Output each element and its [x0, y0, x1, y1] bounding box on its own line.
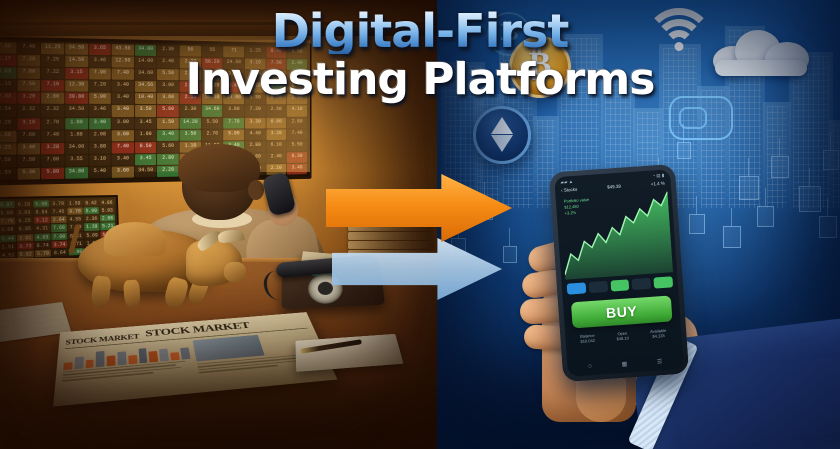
quote-cell: 3.09 [0, 226, 16, 234]
tab-1d[interactable] [567, 282, 587, 294]
quote-cell: 3.00 [112, 118, 134, 129]
nav-menu-icon[interactable]: ☰ [657, 358, 663, 365]
chart-legend: Portfolio value $12,480 +3.2% [564, 197, 591, 217]
stat-balance: Balance $10,042 [580, 333, 595, 344]
quote-cell: 7.75 [0, 218, 15, 226]
buy-button[interactable]: BUY [571, 295, 673, 328]
data-square [799, 186, 821, 212]
quote-cell: 1.51 [0, 243, 16, 251]
ethereum-coin [473, 106, 531, 164]
status-signal: ▰▰ ▲ [560, 179, 573, 186]
trading-app-smartphone[interactable]: ▰▰ ▲ ◔ ▤ ▮ ‹ Stocks $49.38 +1.4 % Portfo… [549, 164, 689, 382]
banner-title: Digital-First Investing Platforms [0, 8, 840, 102]
quote-cell: 1.59 [67, 200, 83, 207]
newspaper-chart-bar [107, 356, 116, 367]
portfolio-chart: Portfolio value $12,480 +3.2% [559, 188, 673, 279]
quote-cell: 3.80 [224, 106, 245, 117]
quote-cell: 3.50 [135, 105, 157, 116]
data-square [819, 216, 837, 238]
tab-1y[interactable] [632, 278, 652, 290]
data-stem [765, 188, 766, 206]
quote-cell: 7.59 [0, 156, 16, 168]
ticker-change: +1.4 % [651, 181, 665, 187]
data-stem [696, 196, 697, 214]
quote-cell: 1.59 [0, 130, 16, 142]
banner-canvas: 7.507.4011.2534.503.6543.5034.002.305655… [0, 0, 840, 449]
bull-shoulder-hump [104, 222, 166, 256]
stat-value: $4,128 [650, 333, 666, 339]
quote-cell: 3.40 [89, 118, 111, 129]
ethereum-diamond-bottom [491, 135, 513, 152]
nav-grid-icon[interactable]: ▦ [621, 361, 627, 368]
data-square [739, 176, 759, 200]
quote-cell: 7.60 [41, 155, 64, 167]
quote-cell: 8.64 [52, 248, 68, 256]
bull-leg [90, 275, 111, 309]
quote-cell: 5.97 [0, 201, 15, 209]
nav-home-icon[interactable]: ⌂ [588, 363, 592, 370]
data-square [771, 156, 789, 178]
data-stem [509, 228, 510, 246]
quote-cell: 3.73 [17, 242, 34, 250]
quote-cell: 5.99 [84, 207, 99, 214]
quote-cell: 5.92 [17, 250, 34, 258]
chat-bubble-icon [669, 96, 733, 140]
quote-cell: 5.79 [35, 249, 51, 257]
tab-1w[interactable] [588, 281, 608, 293]
trader-ear [248, 180, 264, 200]
quote-cell: 7.70 [224, 117, 245, 128]
quote-cell: 1.50 [157, 117, 178, 128]
ethereum-diamond-top [491, 117, 513, 134]
newspaper-photo [192, 335, 264, 362]
quote-cell: 2.93 [16, 209, 33, 217]
quote-cell: 2.70 [202, 129, 223, 140]
newspaper-column [62, 341, 193, 388]
newspaper-chart-bar [149, 351, 158, 362]
phone-screen[interactable]: ▰▰ ▲ ◔ ▤ ▮ ‹ Stocks $49.38 +1.4 % Portfo… [554, 169, 684, 377]
quote-cell: 5.60 [157, 105, 178, 116]
newspaper-chart-bar [159, 348, 169, 361]
quote-cell: 34.60 [202, 106, 223, 117]
quote-cell: 3.23 [0, 143, 16, 155]
bull-leg [123, 279, 141, 308]
quote-cell: 7.68 [51, 224, 67, 232]
quote-cell: 3.20 [0, 118, 16, 130]
newspaper-chart-bar [96, 351, 105, 367]
newspaper-chart-bar [138, 348, 148, 363]
quote-cell: 3.12 [34, 217, 50, 225]
newspaper-chart-bar [85, 359, 94, 368]
back-button[interactable]: ‹ Stocks [561, 187, 578, 193]
data-square [823, 150, 839, 170]
data-square [689, 214, 705, 234]
data-square [503, 246, 517, 263]
data-stem [731, 208, 732, 226]
quote-cell: 3.74 [52, 240, 68, 248]
data-square [677, 142, 691, 159]
quote-cell: 1.60 [65, 118, 88, 129]
quote-cell: 3.01 [17, 234, 34, 242]
quote-cell: 3.45 [135, 118, 157, 129]
newspaper-chart-bar [128, 355, 137, 364]
quote-cell: 7.00 [51, 232, 67, 240]
ticker-price: $49.38 [607, 184, 621, 190]
quote-cell: 3.28 [41, 143, 64, 155]
quote-cell: 34.50 [65, 105, 88, 116]
quote-cell: 2.54 [0, 105, 16, 117]
quote-cell: 3.20 [266, 129, 286, 140]
quote-cell: 3.50 [180, 129, 201, 140]
quote-cell: 7.40 [287, 129, 307, 140]
status-icons: ◔ ▤ ▮ [652, 173, 664, 180]
quote-cell: 2.70 [41, 118, 64, 130]
quote-cell: 5.89 [0, 209, 15, 217]
quote-cell: 4.86 [99, 199, 114, 206]
quote-cell: 3.10 [17, 118, 40, 130]
quote-cell: 7.20 [245, 106, 265, 117]
tab-all[interactable] [654, 276, 674, 288]
quote-cell: 5.80 [33, 200, 49, 208]
quote-cell: 8.84 [33, 208, 49, 216]
quote-cell: 34.00 [65, 142, 88, 154]
quote-cell: 3.46 [89, 105, 111, 116]
quote-cell: 7.60 [17, 130, 40, 142]
data-stem [827, 198, 828, 216]
quote-cell: 5.80 [41, 167, 64, 179]
quote-cell: 4.03 [34, 233, 50, 241]
stat-value: $10,042 [580, 338, 595, 344]
quote-cell: 6.60 [266, 117, 286, 128]
quote-cell: 3.44 [0, 234, 16, 242]
quote-cell: 6.18 [16, 200, 33, 208]
tab-1m[interactable] [610, 279, 630, 291]
quote-cell: 9.70 [67, 208, 83, 215]
quote-cell: 5.40 [89, 167, 111, 179]
quote-cell: 3.80 [89, 142, 111, 154]
quote-cell: 1.90 [135, 130, 157, 141]
quote-cell: 4.40 [245, 129, 265, 140]
newspaper-chart-bar [170, 352, 179, 360]
quote-cell: 3.40 [112, 105, 134, 116]
quote-cell: 8.42 [83, 199, 98, 206]
quote-cell: 7.40 [41, 130, 64, 142]
stat-available: Available $4,128 [650, 328, 667, 339]
data-square [757, 206, 774, 227]
quote-cell: 3.79 [50, 200, 66, 207]
quote-cell: 1.53 [0, 168, 16, 180]
newspaper-chart-bar [74, 356, 83, 369]
quote-cell: 5.30 [17, 168, 40, 180]
quote-cell: 3.55 [65, 155, 88, 167]
quote-cell: 3.40 [157, 130, 178, 141]
quote-cell: 3.10 [89, 154, 111, 166]
newspaper-chart-bar [63, 362, 72, 370]
quote-cell: 7.50 [17, 155, 40, 167]
quote-cell: 34.80 [65, 167, 88, 179]
quote-cell: 7.45 [50, 208, 66, 216]
quote-cell: 2.30 [180, 105, 201, 116]
title-line-1: Digital-First [0, 8, 840, 54]
quote-cell: 8.85 [17, 225, 34, 233]
quote-cell: 4.31 [34, 225, 50, 233]
quote-cell: 2.32 [41, 105, 64, 116]
quote-cell: 3.40 [17, 143, 40, 155]
stat-open: Open $48.10 [616, 330, 629, 341]
data-stem [748, 158, 749, 176]
quote-cell: 5.90 [224, 129, 245, 140]
phone-bottom-nav[interactable]: ⌂ ▦ ☰ [567, 353, 684, 377]
telephone-handset-icon [262, 171, 297, 216]
data-stem [809, 168, 810, 186]
quote-cell: 2.08 [89, 130, 111, 141]
bull-snout [224, 262, 246, 282]
bull-horn [217, 228, 244, 244]
quote-cell: 4.10 [287, 106, 307, 117]
quote-cell: 3.30 [245, 117, 265, 128]
quote-cell: 9.25 [16, 217, 33, 225]
quote-cell: 3.60 [112, 130, 134, 141]
bronze-bull-statue [78, 216, 246, 308]
newspaper-chart-bar [180, 348, 190, 360]
quote-cell: 8.74 [34, 241, 50, 249]
data-stem [779, 138, 780, 156]
newspaper-chart-bar [117, 351, 126, 365]
trader-hair [178, 144, 260, 192]
title-line-2: Investing Platforms [0, 58, 840, 102]
quote-cell: 14.20 [180, 117, 201, 128]
quote-cell: 5.50 [202, 117, 223, 128]
quote-cell: 5.93 [100, 207, 115, 214]
stat-value: $48.10 [616, 335, 629, 341]
data-stem [830, 132, 831, 150]
data-square [723, 226, 741, 248]
quote-cell: 2.64 [51, 216, 67, 224]
quote-cell: 2.32 [17, 105, 40, 117]
quote-cell: 2.80 [287, 117, 307, 128]
quote-cell: 2.50 [266, 106, 286, 117]
quote-cell: 1.88 [65, 130, 88, 142]
